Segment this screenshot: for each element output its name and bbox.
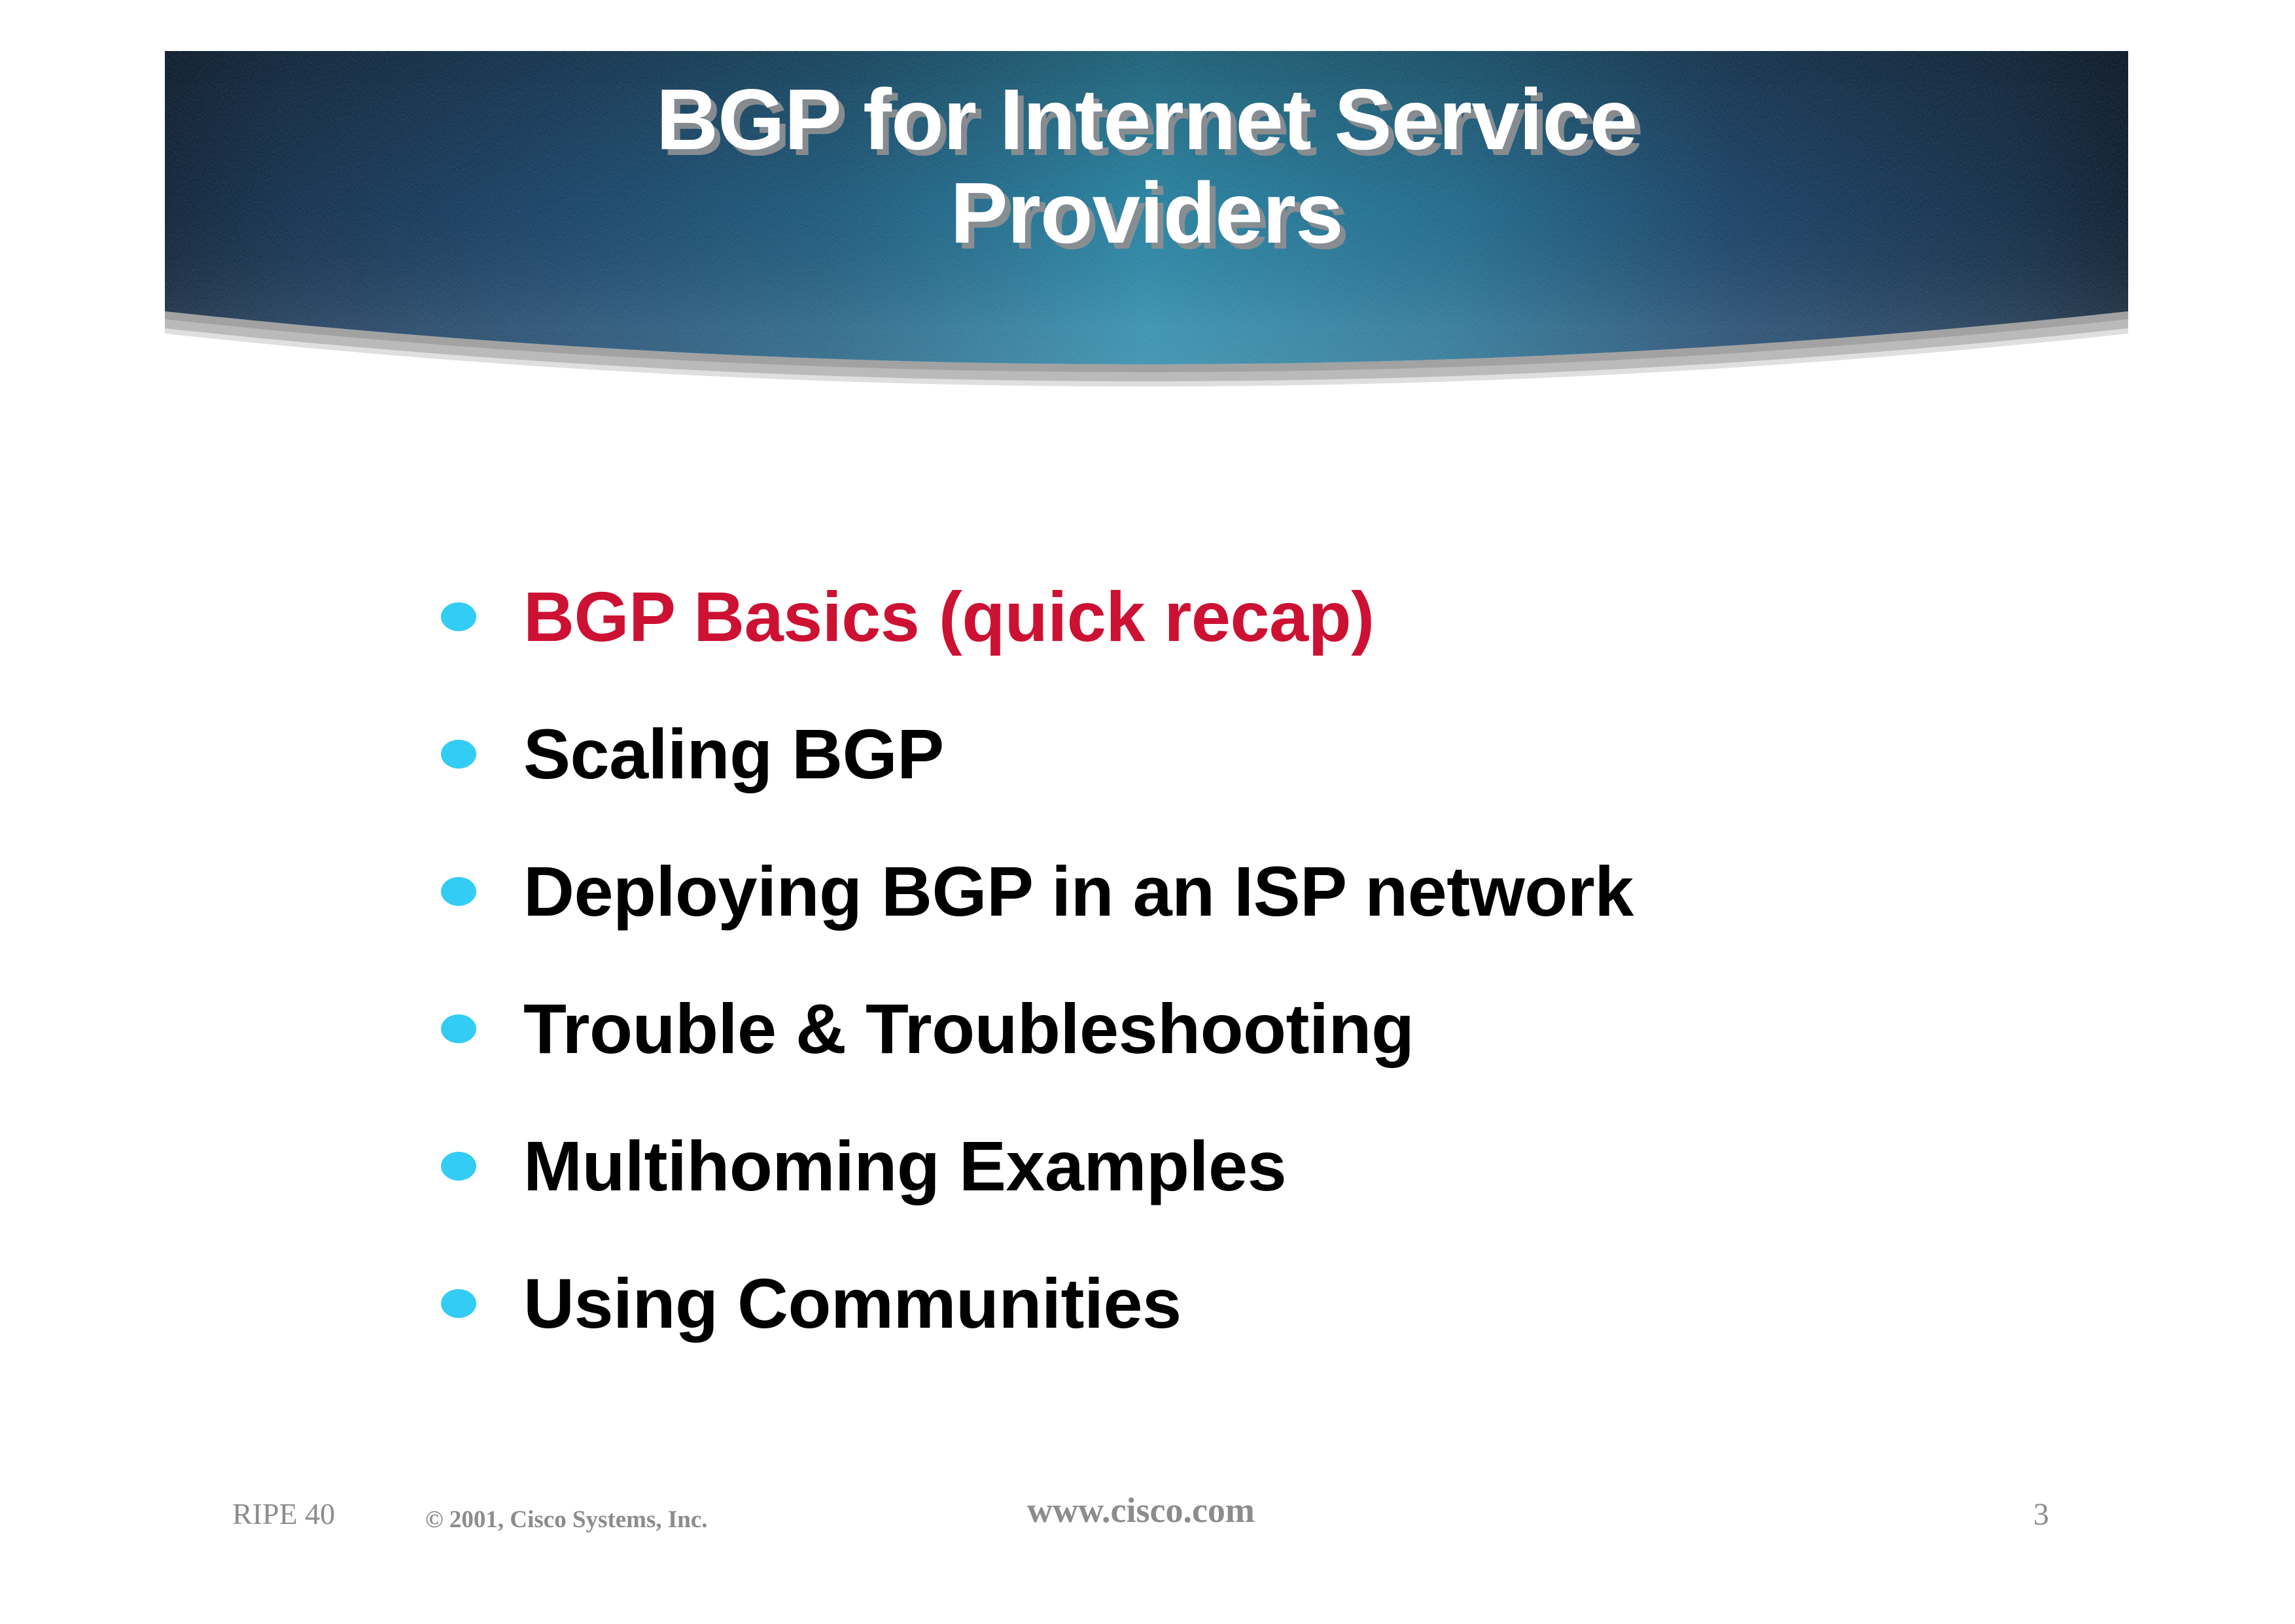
list-item-label: Trouble & Troubleshooting bbox=[523, 992, 2198, 1065]
list-item-label: Scaling BGP bbox=[523, 717, 2198, 791]
list-item[interactable]: Using Communities bbox=[432, 1235, 2198, 1372]
agenda-bullet-list: BGP Basics (quick recap) Scaling BGP Dep… bbox=[432, 548, 2198, 1372]
slide-footer: RIPE 40 © 2001, Cisco Systems, Inc. www.… bbox=[0, 1485, 2295, 1570]
title-banner: BGP for Internet Service Providers bbox=[165, 51, 2128, 398]
list-item[interactable]: Scaling BGP bbox=[432, 685, 2198, 823]
list-item-label: Multihoming Examples bbox=[523, 1129, 2198, 1203]
list-item[interactable]: Multihoming Examples bbox=[432, 1097, 2198, 1235]
footer-event-name: RIPE 40 bbox=[232, 1496, 335, 1531]
footer-url: www.cisco.com bbox=[1027, 1490, 1255, 1530]
list-item[interactable]: Trouble & Troubleshooting bbox=[432, 960, 2198, 1097]
list-item[interactable]: BGP Basics (quick recap) bbox=[432, 548, 2198, 685]
bullet-dot-icon bbox=[441, 877, 476, 906]
list-item[interactable]: Deploying BGP in an ISP network bbox=[432, 823, 2198, 960]
bullet-dot-icon bbox=[441, 1014, 476, 1043]
list-item-label: Deploying BGP in an ISP network bbox=[523, 854, 2198, 928]
bullet-dot-icon bbox=[441, 1289, 476, 1318]
page-title: BGP for Internet Service Providers bbox=[165, 73, 2128, 260]
footer-copyright: © 2001, Cisco Systems, Inc. bbox=[425, 1506, 708, 1534]
bullet-dot-icon bbox=[441, 602, 476, 631]
bullet-dot-icon bbox=[441, 740, 476, 769]
list-item-label: Using Communities bbox=[523, 1266, 2198, 1340]
list-item-label: BGP Basics (quick recap) bbox=[523, 579, 2198, 653]
footer-page-number: 3 bbox=[2033, 1496, 2049, 1532]
bullet-dot-icon bbox=[441, 1152, 476, 1181]
